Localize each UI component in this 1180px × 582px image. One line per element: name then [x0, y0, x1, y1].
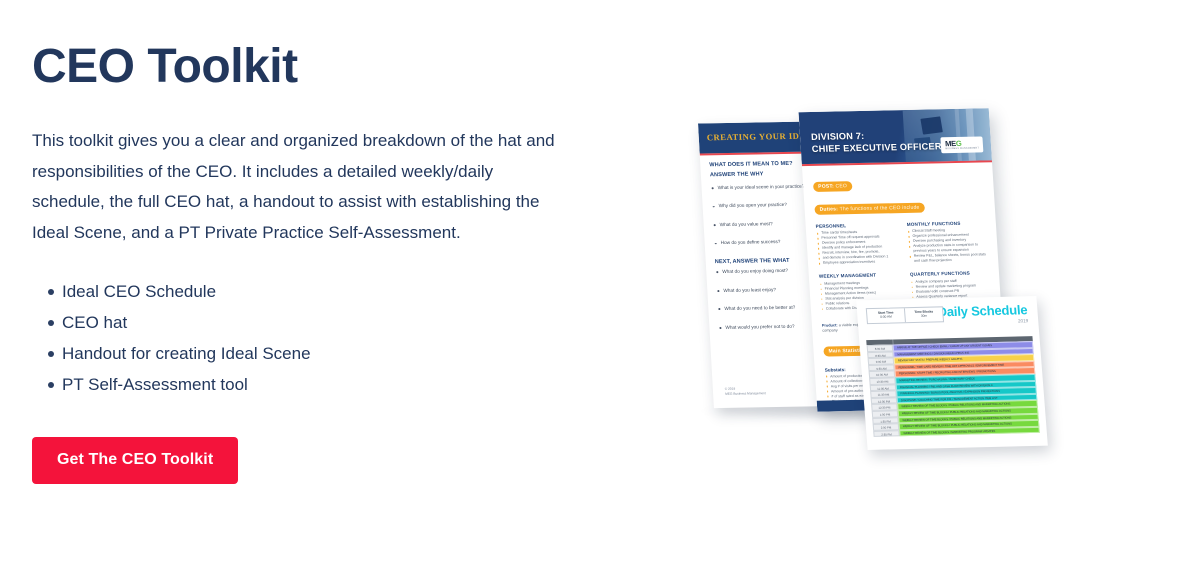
post-pill-label: POST: [818, 183, 834, 189]
list-item: CEO hat [32, 307, 572, 338]
monthly-functions-list: Clinical Staff meeting Organize professi… [907, 228, 989, 265]
window-bar-2 [955, 109, 962, 161]
duties-pill: Duties: The functions of the CEO include [814, 202, 924, 214]
bullet-icon [48, 382, 54, 388]
list-item: Ideal CEO Schedule [32, 276, 572, 307]
table-cell: Start Time 8:00 AM [867, 308, 906, 323]
table-cell: Time Blocks 30m [905, 307, 943, 322]
list-item: Review P&L, balance sheets, bonus pool s… [909, 253, 990, 265]
document-title: DIVISION 7: CHIEF EXECUTIVE OFFICER [811, 129, 942, 155]
product-label: Product: [822, 323, 838, 327]
duties-pill-label: Duties: [819, 206, 838, 212]
post-pill-value: CEO [835, 183, 847, 189]
hero-content-column: CEO Toolkit This toolkit gives you a cle… [32, 42, 572, 484]
post-pill: POST: CEO [813, 181, 852, 192]
feature-list: Ideal CEO Schedule CEO hat Handout for c… [32, 276, 572, 400]
footer-company: MEG Business Management [725, 391, 766, 396]
list-item-label: Ideal CEO Schedule [62, 282, 216, 301]
meg-logo: MEG BUSINESS MANAGEMENT [941, 137, 984, 153]
product-mockup-image: CREATING YOUR IDEAL SCENE WHAT DOES IT M… [690, 100, 1090, 460]
schedule-year: 2019 [938, 318, 1028, 325]
cta-container: Get The CEO Toolkit [32, 437, 572, 484]
bullet-icon [48, 351, 54, 357]
cell-value: 30m [907, 314, 940, 319]
list-item-label: CEO hat [62, 313, 127, 332]
document-footer: © 2019 MEG Business Management [725, 386, 766, 396]
section-label: QUARTERLY FUNCTIONS [910, 270, 990, 277]
schedule-rows: 8:00 AMARRIVE AT THE OFFICE / CHECK EMAI… [867, 341, 1040, 437]
section-label: WEEKLY MANAGEMENT [819, 272, 899, 279]
bullet-icon [48, 320, 54, 326]
get-ceo-toolkit-button[interactable]: Get The CEO Toolkit [32, 437, 238, 484]
schedule-settings-table: Start Time 8:00 AM Time Blocks 30m [866, 306, 944, 324]
window-bar [966, 109, 976, 161]
section-label: PERSONNEL [816, 222, 896, 229]
duties-pill-value: The functions of the CEO include [839, 204, 919, 212]
schedule-title-block: Daily Schedule 2019 [937, 303, 1028, 325]
list-item: Handout for creating Ideal Scene [32, 338, 572, 369]
page-title: CEO Toolkit [32, 42, 572, 92]
list-item: Employee appreciation incentives [818, 259, 898, 266]
bullet-icon [48, 289, 54, 295]
list-item: PT Self-Assessment tool [32, 369, 572, 400]
cell-value: 8:00 AM [869, 315, 902, 320]
document-daily-schedule: Daily Schedule 2019 Start Time 8:00 AM T… [856, 296, 1048, 450]
schedule-row-time: 2:30 PM [873, 430, 900, 437]
section-label: MONTHLY FUNCTIONS [907, 220, 987, 227]
quarterly-functions-list: Analyze company per staff Review and upd… [910, 278, 991, 300]
list-item-label: Handout for creating Ideal Scene [62, 344, 311, 363]
personnel-list: Time cards/ timesheets Personnel Time of… [816, 229, 898, 266]
hero-description: This toolkit gives you a clear and organ… [32, 126, 560, 248]
list-item-label: PT Self-Assessment tool [62, 375, 248, 394]
document-hero-banner: DIVISION 7: CHIEF EXECUTIVE OFFICER MEG … [799, 108, 992, 164]
landing-page-hero-section: CEO Toolkit This toolkit gives you a cle… [0, 0, 1180, 582]
meg-logo-subtitle: BUSINESS MANAGEMENT [945, 148, 979, 151]
schedule-title: Daily Schedule [937, 303, 1028, 319]
schedule-grid: 8:00 AMARRIVE AT THE OFFICE / CHECK EMAI… [866, 336, 1040, 437]
